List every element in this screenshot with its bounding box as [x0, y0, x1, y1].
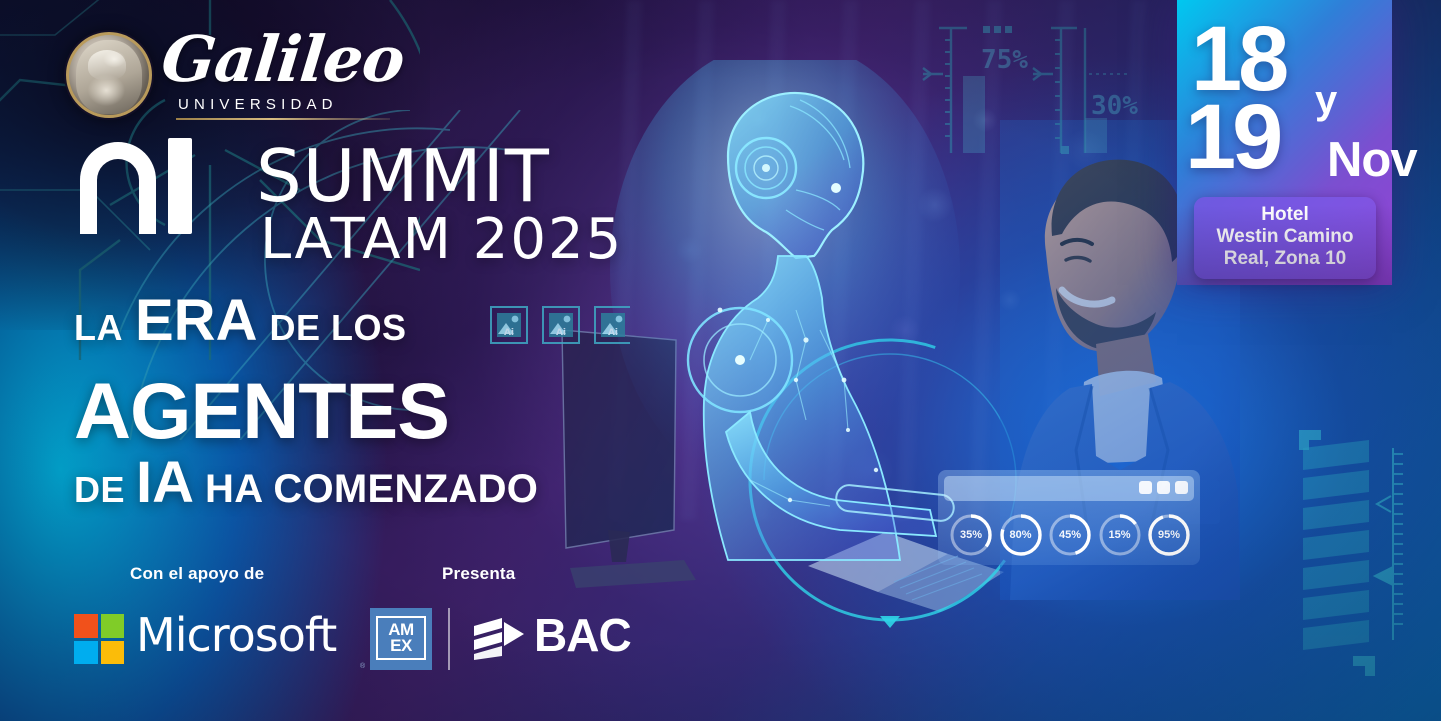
title-latam-year: LATAM 2025: [260, 212, 623, 268]
galileo-university-logo[interactable]: Galileo UNIVERSIDAD: [66, 26, 396, 124]
bac-logo[interactable]: BAC: [472, 612, 672, 666]
event-dates: 18 y 19 Nov: [1185, 20, 1385, 190]
ai-logomark-letter-a: [74, 138, 162, 234]
tagline-era: ERA: [135, 288, 257, 353]
venue-line-3: Real, Zona 10: [1200, 248, 1370, 270]
sponsor-section: Con el apoyo de Presenta Microsoft AM EX…: [74, 558, 634, 688]
amex-registered-mark: ®: [360, 663, 365, 670]
sponsor-divider: [448, 608, 450, 670]
bac-wordmark: BAC: [534, 608, 631, 662]
microsoft-logo[interactable]: Microsoft: [74, 610, 318, 666]
amex-line-2: EX: [390, 638, 412, 654]
event-title-block: SUMMIT LATAM 2025: [74, 136, 634, 268]
bac-arrow-icon: [472, 616, 526, 660]
presents-label: Presenta: [442, 564, 515, 584]
tagline-agentes: AGENTES: [74, 369, 594, 453]
tagline-line-1: LAERADE LOS: [74, 292, 594, 369]
venue-badge: Hotel Westin Camino Real, Zona 10: [1194, 197, 1376, 279]
venue-line-1: Hotel: [1200, 204, 1370, 226]
event-tagline: LAERADE LOS AGENTES DEIAHA COMENZADO: [74, 292, 594, 532]
ai-logomark-letter-i: [168, 138, 192, 234]
tagline-de: DE: [74, 469, 125, 510]
event-promo-banner: Ai Ai Ai: [0, 0, 1441, 721]
event-month: Nov: [1327, 132, 1417, 188]
event-date-conjunction: y: [1315, 78, 1337, 123]
microsoft-wordmark: Microsoft: [136, 608, 336, 662]
logo-divider-rule: [176, 118, 390, 120]
event-day-2: 19: [1185, 98, 1279, 177]
event-date-panel: 18 y 19 Nov Hotel Westin Camino Real, Zo…: [1177, 0, 1392, 285]
venue-line-2: Westin Camino: [1200, 226, 1370, 248]
tagline-la: LA: [74, 307, 123, 348]
ai-logomark: [74, 138, 192, 234]
tagline-de-los: DE LOS: [269, 307, 406, 348]
event-day-1: 18: [1191, 20, 1285, 99]
university-name: Galileo: [159, 28, 407, 91]
amex-logo[interactable]: AM EX ®: [370, 608, 432, 670]
microsoft-squares-icon: [74, 614, 124, 664]
university-subtitle: UNIVERSIDAD: [178, 96, 338, 113]
amex-wordmark: AM EX: [376, 616, 426, 660]
tagline-line-3: DEIAHA COMENZADO: [74, 453, 594, 532]
tagline-ia: IA: [136, 450, 194, 515]
tagline-ha-comenzado: HA COMENZADO: [205, 467, 538, 511]
title-summit: SUMMIT: [256, 140, 550, 212]
support-label: Con el apoyo de: [130, 564, 264, 584]
galileo-bust-icon: [66, 32, 152, 118]
